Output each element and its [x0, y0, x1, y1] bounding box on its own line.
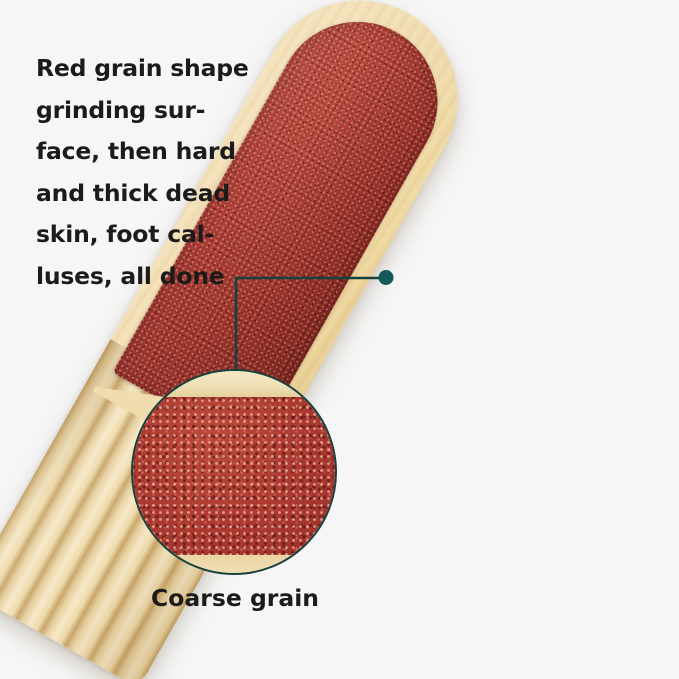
magnified-detail-circle	[131, 369, 337, 575]
coarse-grit-closeup	[131, 389, 337, 559]
detail-caption-label: Coarse grain	[0, 584, 470, 612]
detail-wood-edge-top	[133, 371, 335, 397]
annotation-paragraph: Red grain shape grinding sur- face, then…	[36, 48, 266, 297]
product-infographic: Red grain shape grinding sur- face, then…	[0, 0, 679, 679]
detail-wood-edge-bottom	[133, 555, 335, 573]
